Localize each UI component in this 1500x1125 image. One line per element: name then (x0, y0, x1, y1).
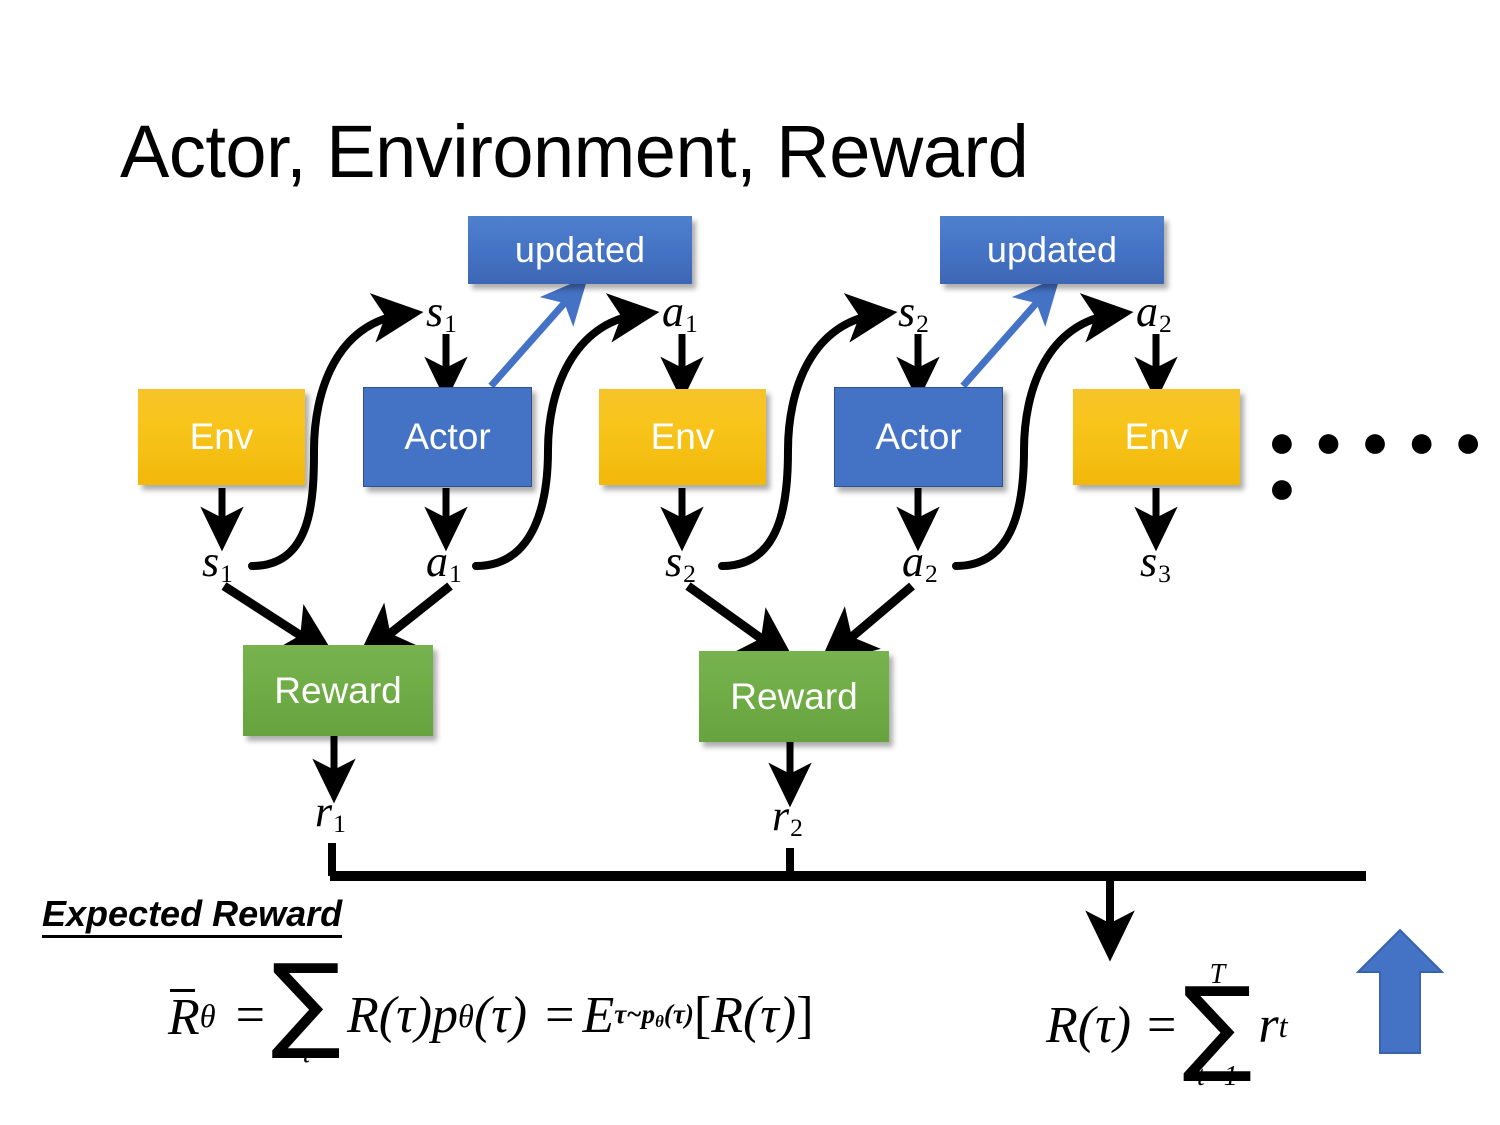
label-s2-top: s2 (898, 290, 929, 336)
sigma-glyph: ∑ (271, 962, 341, 1043)
label-a2-top: a2 (1136, 290, 1172, 336)
label-r2: r2 (772, 794, 803, 840)
label-s1-top: s1 (426, 290, 457, 336)
formula-E: E (582, 990, 614, 1042)
formula-E-subscript: τ~pθ(τ) (614, 1001, 694, 1031)
trajectory-return-formula: R (τ) = T ∑ t=1 r t (1046, 960, 1288, 1093)
reward-box-1[interactable]: Reward (243, 645, 433, 736)
actor-box-2[interactable]: Actor (834, 387, 1003, 487)
sum-index-tau: τ (301, 1039, 311, 1070)
right-formula-r-sub: t (1279, 1010, 1288, 1042)
label-r1: r1 (315, 790, 346, 836)
right-formula-R-arg: (τ) (1078, 1000, 1131, 1052)
label-s3-bottom: s3 (1140, 540, 1171, 586)
updated-box-1[interactable]: updated (468, 216, 692, 284)
reward-input-arrows (224, 586, 912, 652)
formula-bracket-arg: (τ) (743, 990, 796, 1042)
env-box-3[interactable]: Env (1073, 389, 1240, 485)
formula-bracket-open: [ (694, 990, 711, 1042)
env-box-3-label: Env (1125, 416, 1189, 458)
formula-equals-2: = (545, 990, 574, 1042)
total-reward-collector-bar (330, 843, 1366, 944)
formula-rbar: R (168, 988, 200, 1044)
formula-p-arg: (τ) (474, 990, 527, 1042)
ellipsis-indicator: ● ● ● ● ● ● (1268, 418, 1500, 510)
actor-box-1-label: Actor (404, 416, 490, 458)
env-box-1-label: Env (190, 416, 254, 458)
slide-canvas: Actor, Environment, Reward (0, 0, 1500, 1125)
expected-reward-formula: R θ = ∑ τ R (τ) p θ (τ) = E τ~pθ(τ) [ R … (168, 962, 814, 1070)
reward-box-2-label: Reward (730, 676, 858, 718)
sum-lower-limit: t=1 (1197, 1062, 1238, 1093)
actor-box-2-label: Actor (875, 416, 961, 458)
formula-R-arg: (τ) (379, 990, 432, 1042)
formula-R: R (347, 990, 379, 1042)
env-box-2-label: Env (651, 416, 715, 458)
formula-equals-1: = (236, 990, 265, 1042)
label-a1-top: a1 (662, 290, 698, 336)
reward-box-2[interactable]: Reward (699, 651, 889, 742)
formula-bracket-close: ] (796, 990, 813, 1042)
right-formula-r: r (1258, 1000, 1278, 1052)
updated-box-2[interactable]: updated (940, 216, 1164, 284)
formula-bracket-R: R (711, 990, 743, 1042)
label-s1-bottom: s1 (202, 540, 233, 586)
expected-reward-heading: Expected Reward (42, 895, 342, 938)
formula-p-theta: θ (458, 1000, 474, 1032)
formula-sum-tau: ∑ τ (271, 962, 341, 1070)
label-a2-bottom: a2 (902, 540, 938, 586)
formula-p: p (432, 990, 458, 1042)
actor-box-1[interactable]: Actor (363, 387, 532, 487)
reward-box-1-label: Reward (274, 670, 402, 712)
updated-box-1-label: updated (515, 229, 645, 271)
label-a1-bottom: a1 (426, 540, 462, 586)
label-s2-bottom: s2 (665, 540, 696, 586)
reward-output-arrows (334, 736, 790, 792)
right-formula-equals: = (1147, 1000, 1176, 1052)
updated-box-2-label: updated (987, 229, 1117, 271)
blue-up-arrow-icon (1358, 930, 1442, 1053)
right-formula-sum: T ∑ t=1 (1182, 960, 1252, 1093)
formula-theta-sub: θ (200, 1000, 216, 1032)
env-box-2[interactable]: Env (599, 389, 766, 485)
updated-blue-arrows (491, 290, 1048, 386)
sigma-glyph-right: ∑ (1182, 985, 1252, 1066)
right-formula-R: R (1046, 1000, 1078, 1052)
env-box-1[interactable]: Env (138, 389, 305, 485)
